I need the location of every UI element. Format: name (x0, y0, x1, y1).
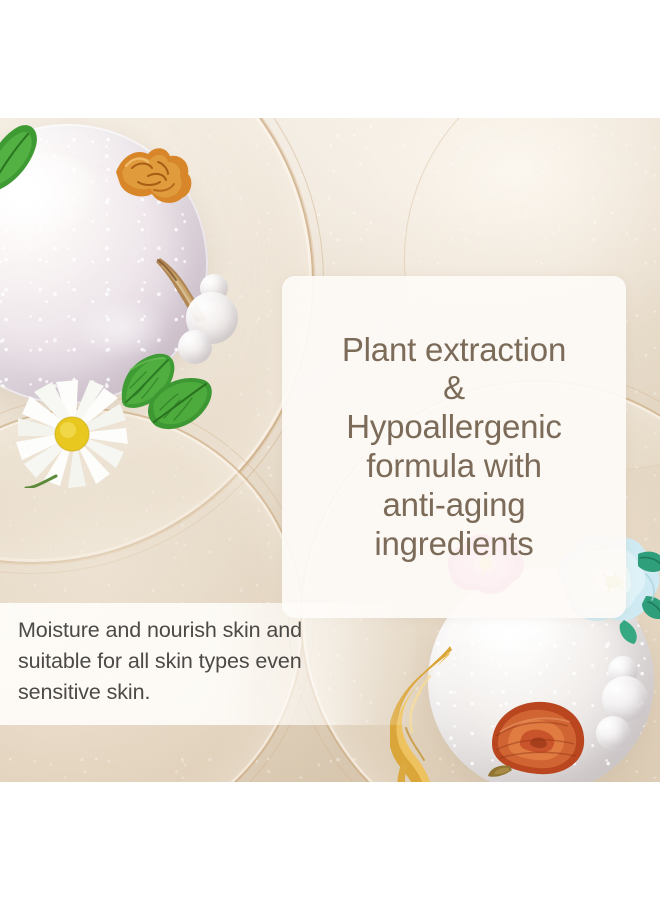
glass-droplet-right-large (602, 676, 648, 722)
daisy-flower-icon (16, 376, 128, 488)
glass-droplet-right-lower (596, 716, 630, 750)
subtext-paragraph: Moisture and nourish skin and suitable f… (18, 615, 410, 709)
reishi-mushroom-icon (486, 696, 592, 782)
headline-text: Plant extraction & Hypoallergenic formul… (332, 331, 576, 564)
glass-droplet-small-lower (178, 330, 212, 364)
product-feature-banner: Plant extraction & Hypoallergenic formul… (0, 0, 660, 900)
green-leaf-icon-edge (0, 124, 44, 194)
dried-root-icon (108, 142, 200, 210)
headline-card: Plant extraction & Hypoallergenic formul… (282, 276, 626, 618)
green-leaf-icon-lower (146, 374, 216, 438)
ingredient-photo-band: Plant extraction & Hypoallergenic formul… (0, 118, 660, 782)
